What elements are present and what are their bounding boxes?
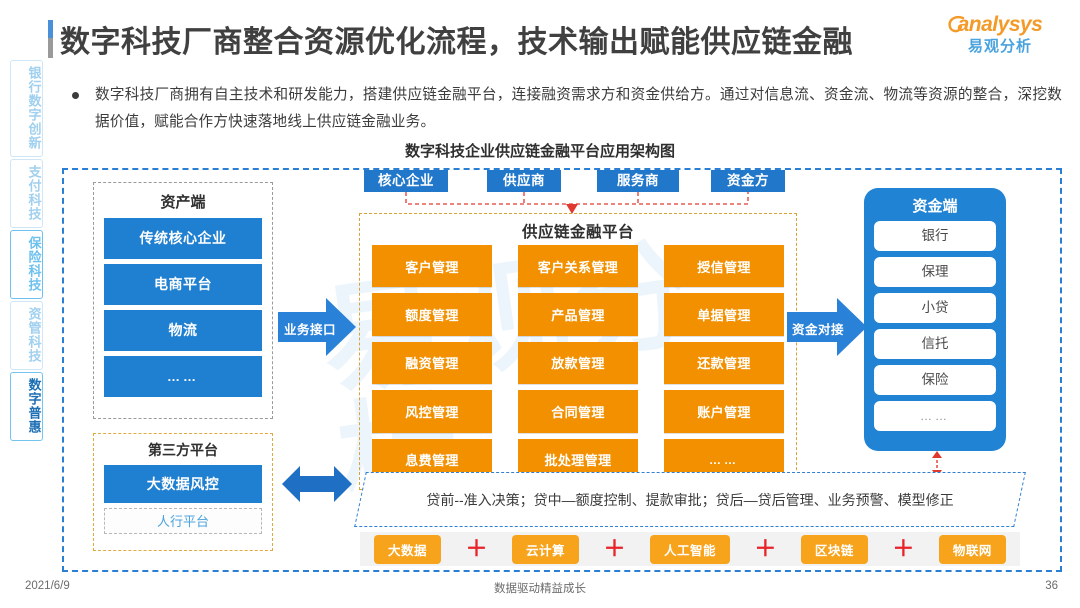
figure-title: 数字科技企业供应链金融平台应用架构图 [0,140,1080,161]
plus-icon: ＋ [465,538,487,560]
supply-chain-finance-platform: 供应链金融平台 客户管理 客户关系管理 授信管理 额度管理 产品管理 单据管理 … [359,213,797,490]
third-party-heading: 第三方平台 [104,437,262,465]
page-footer: 2021/6/9 数据驱动精益成长 36 [0,580,1080,602]
module-risk-control-management[interactable]: 风控管理 [372,390,492,432]
sidebar-tabs[interactable]: 银行数字创新 支付科技 保险科技 资管科技 数字普惠 [8,60,44,443]
tech-chip-bigdata[interactable]: 大数据 [374,535,441,564]
plus-icon: ＋ [603,538,625,560]
sidebar-item-label: 保险科技 [27,236,42,292]
asset-item-more[interactable]: …… [104,356,262,397]
asset-item-ecommerce[interactable]: 电商平台 [104,264,262,305]
summary-bullet: 数字科技厂商拥有自主技术和研发能力，搭建供应链金融平台，连接融资需求方和资金供给… [62,82,1062,136]
business-interface-label: 业务接口 [284,319,336,338]
plus-icon: ＋ [754,538,776,560]
asset-item-logistics[interactable]: 物流 [104,310,262,351]
tech-chip-iot[interactable]: 物联网 [939,535,1006,564]
sidebar-item-label: 资管科技 [27,307,42,363]
module-quota-management[interactable]: 额度管理 [372,293,492,335]
module-account-management[interactable]: 账户管理 [664,390,784,432]
platform-module-grid: 客户管理 客户关系管理 授信管理 额度管理 产品管理 单据管理 融资管理 放款管… [372,245,784,481]
tech-chip-blockchain[interactable]: 区块链 [801,535,868,564]
platform-title: 供应链金融平台 [360,214,796,242]
title-accent-bar [48,20,53,58]
fund-item-microloan[interactable]: 小贷 [874,293,996,323]
tech-chip-ai[interactable]: 人工智能 [650,535,730,564]
sidebar-item-insurance-tech[interactable]: 保险科技 [10,230,43,299]
module-financing-management[interactable]: 融资管理 [372,342,492,384]
sidebar-item-digital-inclusive[interactable]: 数字普惠 [10,372,43,441]
page-header: 数字科技厂商整合资源优化流程，技术输出赋能供应链金融 analysys 易观分析 [0,0,1080,72]
third-party-platform-panel: 第三方平台 大数据风控 人行平台 [93,433,273,551]
module-loan-disbursement-management[interactable]: 放款管理 [518,342,638,384]
loan-lifecycle-text: 贷前--准入决策；贷中—额度控制、提款审批；贷后—贷后管理、业务预警、模型修正 [360,472,1020,527]
bidirectional-arrow [282,462,352,506]
third-party-item-bigdata-riskcontrol[interactable]: 大数据风控 [104,465,262,503]
tech-chip-cloud[interactable]: 云计算 [512,535,579,564]
loan-lifecycle-box: 贷前--准入决策；贷中—额度控制、提款审批；贷后—贷后管理、业务预警、模型修正 [360,472,1020,527]
module-customer-management[interactable]: 客户管理 [372,245,492,287]
sidebar-item-payment-tech[interactable]: 支付科技 [10,159,43,228]
module-crm[interactable]: 客户关系管理 [518,245,638,287]
business-interface-arrow: 业务接口 [278,298,356,356]
bullet-dot-icon [72,92,79,99]
fund-connection-arrow: 资金对接 [787,298,867,356]
fund-connection-label: 资金对接 [792,319,844,338]
footer-page-number: 36 [1045,580,1058,592]
logo-chinese-name: 易观分析 [940,38,1060,56]
sidebar-item-label: 支付科技 [27,165,42,221]
module-credit-management[interactable]: 授信管理 [664,245,784,287]
module-product-management[interactable]: 产品管理 [518,293,638,335]
fund-item-trust[interactable]: 信托 [874,329,996,359]
plus-icon: ＋ [892,538,914,560]
analysys-logo: analysys 易观分析 [940,12,1060,64]
sidebar-item-asset-management-tech[interactable]: 资管科技 [10,301,43,370]
logo-swirl-icon [946,14,968,36]
sidebar-item-bank-digital[interactable]: 银行数字创新 [10,60,43,157]
summary-text: 数字科技厂商拥有自主技术和研发能力，搭建供应链金融平台，连接融资需求方和资金供给… [95,82,1062,136]
fund-panel-heading: 资金端 [874,192,996,221]
third-party-item-pboc-platform: 人行平台 [104,508,262,534]
fund-item-insurance[interactable]: 保险 [874,365,996,395]
technology-stack-band: 大数据 ＋ 云计算 ＋ 人工智能 ＋ 区块链 ＋ 物联网 [360,532,1020,566]
module-repayment-management[interactable]: 还款管理 [664,342,784,384]
module-document-management[interactable]: 单据管理 [664,293,784,335]
architecture-diagram: 资产端 传统核心企业 电商平台 物流 …… 第三方平台 大数据风控 人行平台 业… [62,168,1062,572]
sidebar-item-label: 数字普惠 [27,378,42,434]
fund-item-bank[interactable]: 银行 [874,221,996,251]
fund-item-more[interactable]: …… [874,401,996,431]
page-title: 数字科技厂商整合资源优化流程，技术输出赋能供应链金融 [60,17,853,61]
fund-item-factoring[interactable]: 保理 [874,257,996,287]
fund-side-panel: 资金端 银行 保理 小贷 信托 保险 …… [864,188,1006,451]
sidebar-item-label: 银行数字创新 [27,66,42,150]
footer-tagline: 数据驱动精益成长 [0,580,1080,596]
module-contract-management[interactable]: 合同管理 [518,390,638,432]
